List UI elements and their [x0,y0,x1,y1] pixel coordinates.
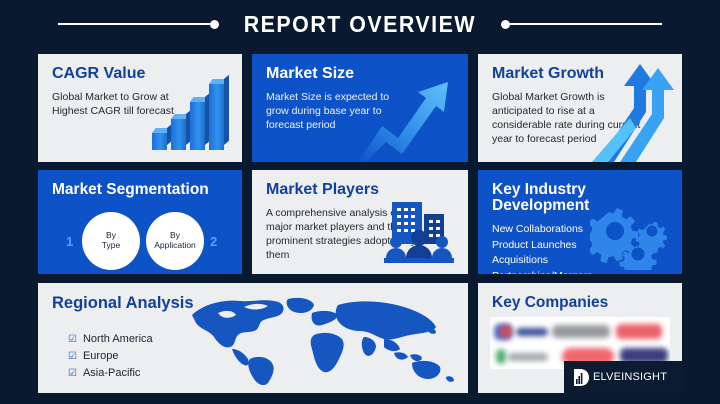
card-market-size[interactable]: Market Size Market Size is expected to g… [252,54,468,162]
region-row[interactable]: ☑ Europe [68,348,153,365]
card-cagr-value[interactable]: CAGR Value Global Market to Grow at High… [38,54,242,162]
card-market-growth[interactable]: Market Growth Global Market Growth is an… [478,54,682,162]
buildings-and-people-icon [382,192,456,266]
segment-number-1: 1 [66,234,73,249]
segment-2-line2: Application [154,241,196,251]
header-rule-left [58,23,210,25]
company-logo-wordmark [552,325,610,338]
card-companies-content: Key Companies [492,295,672,311]
world-map-icon [188,293,460,385]
region-row[interactable]: ☑ North America [68,331,153,348]
card-key-industry-development[interactable]: Key Industry Development New Collaborati… [478,170,682,274]
region-list: ☑ North America ☑ Europe ☑ Asia-Pacific [68,331,153,382]
card-key-companies[interactable]: Key Companies [478,283,682,393]
card-market-segmentation[interactable]: Market Segmentation 1 By Type By Applica… [38,170,242,274]
header: REPORT OVERVIEW [0,0,720,48]
page-title: REPORT OVERVIEW [244,11,476,38]
card-segmentation-title: Market Segmentation [52,182,232,198]
company-logo-wordmark [516,328,548,336]
company-logo-wordmark [616,324,662,339]
region-label: Asia-Pacific [83,365,140,382]
header-rule-right [510,23,662,25]
delveinsight-wordmark: ELVEINSIGHT [593,371,667,383]
card-market-players[interactable]: Market Players A comprehensive analysis … [252,170,468,274]
header-dot-right [501,20,510,29]
checkbox-icon[interactable]: ☑ [68,369,77,379]
region-label: North America [83,331,153,348]
header-dot-left [210,20,219,29]
delveinsight-logo-icon [574,369,589,386]
bar-chart-icon [150,78,228,150]
segment-circle-by-type[interactable]: By Type [82,212,140,270]
region-row[interactable]: ☑ Asia-Pacific [68,365,153,382]
segment-circle-by-application[interactable]: By Application [146,212,204,270]
gears-icon [590,198,676,270]
checkbox-icon[interactable]: ☑ [68,335,77,345]
rising-arrows-icon [590,56,680,162]
upward-trend-arrow-icon [352,62,464,162]
segment-number-2: 2 [210,234,217,249]
segmentation-circles: 1 By Type By Application 2 [58,212,226,270]
card-companies-title: Key Companies [492,295,672,311]
segment-1-line2: Type [102,241,120,251]
company-logo-row [490,319,670,345]
company-logo-mark [496,349,506,364]
checkbox-icon[interactable]: ☑ [68,352,77,362]
company-logo-wordmark [508,353,548,361]
card-segmentation-content: Market Segmentation [52,182,232,198]
card-regional-analysis[interactable]: Regional Analysis ☑ North America ☑ Euro… [38,283,468,393]
region-label: Europe [83,348,118,365]
delveinsight-watermark: ELVEINSIGHT [564,361,682,393]
report-overview-infographic: REPORT OVERVIEW CAGR Value Global Market… [0,0,720,404]
company-logo-mark [500,325,512,338]
